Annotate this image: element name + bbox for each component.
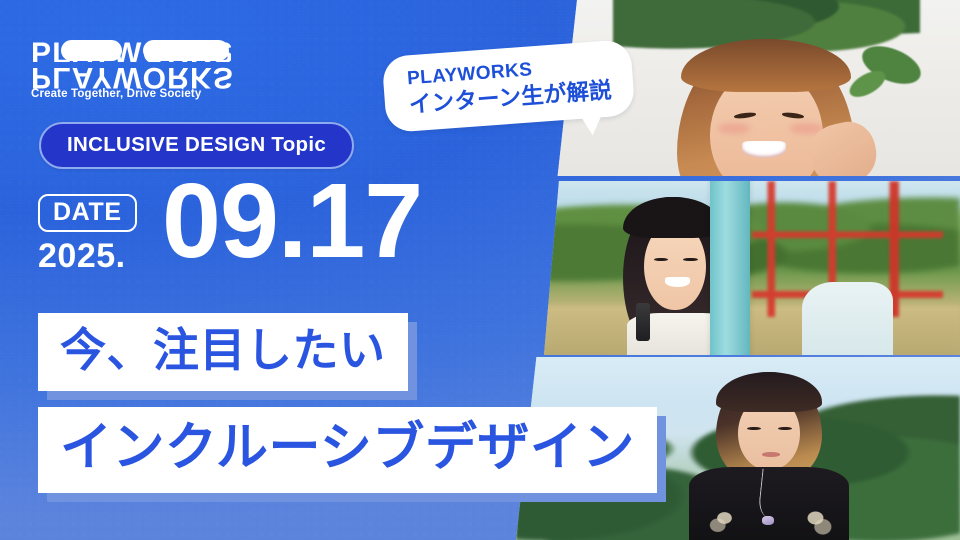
person-eye: [778, 427, 792, 431]
second-person-arm: [802, 282, 894, 355]
promo-banner: PLAYWORKS PLAYWORKS Create Together, Dri…: [0, 0, 960, 540]
logo-pill-shape: [143, 40, 229, 61]
headline-line-1: 今、注目したい: [38, 313, 408, 391]
playground-pole: [710, 181, 750, 355]
logo-wordmark-mirrored: PLAYWORKS: [31, 63, 231, 91]
speech-bubble: PLAYWORKS インターン生が解説: [382, 39, 636, 133]
person-lips: [762, 452, 780, 456]
date-left-column: DATE 2025.: [38, 194, 156, 275]
speech-bubble-tail: [578, 113, 603, 136]
photo-scene-park: [544, 181, 960, 355]
logo-mark: PLAYWORKS PLAYWORKS: [31, 36, 231, 84]
shirt-embroidery: [791, 498, 840, 538]
date-day: 09.17: [162, 168, 422, 274]
headline-line-2: インクルーシブデザイン: [38, 407, 657, 493]
person-eye: [747, 427, 761, 431]
date-chip-label: DATE: [38, 194, 137, 232]
person-smile: [665, 277, 690, 287]
playworks-logo[interactable]: PLAYWORKS PLAYWORKS Create Together, Dri…: [31, 36, 231, 100]
photo-woman-at-playground: [544, 181, 960, 355]
logo-pill-shape: [61, 40, 122, 61]
date-year: 2025.: [38, 237, 156, 275]
handheld-microphone: [636, 303, 650, 341]
shirt-embroidery: [702, 500, 746, 537]
person-cheek: [718, 123, 750, 134]
necklace-pendant: [762, 516, 774, 525]
